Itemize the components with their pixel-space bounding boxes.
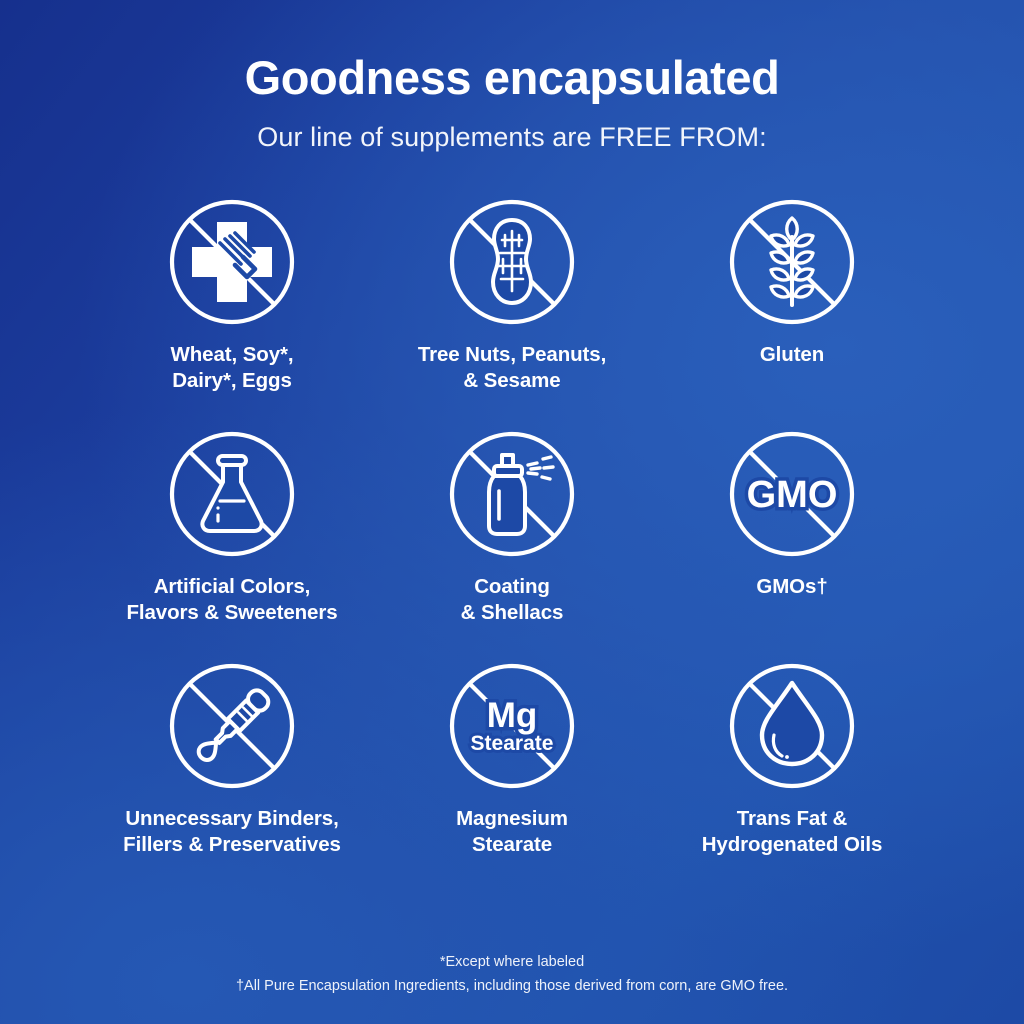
no-mg-stearate-icon: Mg Stearate xyxy=(445,659,579,793)
grid-item-binders-fillers-preservatives: Unnecessary Binders, Fillers & Preservat… xyxy=(92,659,372,891)
grid-item-label: Magnesium Stearate xyxy=(456,806,568,859)
no-oil-drop-icon xyxy=(725,659,859,793)
grid-item-label: Gluten xyxy=(760,342,824,369)
page-title: Goodness encapsulated xyxy=(0,52,1024,105)
grid-item-wheat-soy-dairy-eggs: Wheat, Soy*, Dairy*, Eggs xyxy=(92,195,372,427)
footnotes: *Except where labeled †All Pure Encapsul… xyxy=(0,951,1024,998)
grid-item-label: Wheat, Soy*, Dairy*, Eggs xyxy=(171,342,294,395)
grid-item-label: Trans Fat & Hydrogenated Oils xyxy=(702,806,883,859)
grid-item-label: Artificial Colors, Flavors & Sweeteners xyxy=(126,574,337,627)
grid-item-artificial-colors: Artificial Colors, Flavors & Sweeteners xyxy=(92,427,372,659)
grid-item-label: GMOs† xyxy=(756,574,827,601)
no-spray-can-icon xyxy=(445,427,579,561)
no-peanut-icon xyxy=(445,195,579,329)
mg-icon-text: Mg xyxy=(487,696,538,735)
grid-item-magnesium-stearate: Mg Stearate Magnesium Stearate xyxy=(372,659,652,891)
grid-item-label: Unnecessary Binders, Fillers & Preservat… xyxy=(123,806,341,859)
grid-item-label: Tree Nuts, Peanuts, & Sesame xyxy=(418,342,606,395)
no-dropper-icon xyxy=(165,659,299,793)
no-wheat-stalk-icon xyxy=(725,195,859,329)
page-subtitle: Our line of supplements are FREE FROM: xyxy=(0,122,1024,153)
grid-item-coating-shellacs: Coating & Shellacs xyxy=(372,427,652,659)
grid-item-gluten: Gluten xyxy=(652,195,932,427)
grid-item-label: Coating & Shellacs xyxy=(461,574,564,627)
footnote-dagger: †All Pure Encapsulation Ingredients, inc… xyxy=(0,975,1024,998)
grid-item-gmos: GMO GMOs† xyxy=(652,427,932,659)
grid-item-trans-fat-hydrogenated-oils: Trans Fat & Hydrogenated Oils xyxy=(652,659,932,891)
no-fork-cross-icon xyxy=(165,195,299,329)
grid-item-tree-nuts-peanuts-sesame: Tree Nuts, Peanuts, & Sesame xyxy=(372,195,652,427)
poster-root: Goodness encapsulated Our line of supple… xyxy=(0,0,1024,1024)
stearate-icon-text: Stearate xyxy=(471,732,554,755)
no-gmo-icon: GMO xyxy=(725,427,859,561)
footnote-asterisk: *Except where labeled xyxy=(0,951,1024,974)
no-flask-icon xyxy=(165,427,299,561)
gmo-icon-text: GMO xyxy=(747,474,838,516)
free-from-grid: Wheat, Soy*, Dairy*, Eggs xyxy=(92,195,932,891)
header: Goodness encapsulated Our line of supple… xyxy=(0,0,1024,153)
